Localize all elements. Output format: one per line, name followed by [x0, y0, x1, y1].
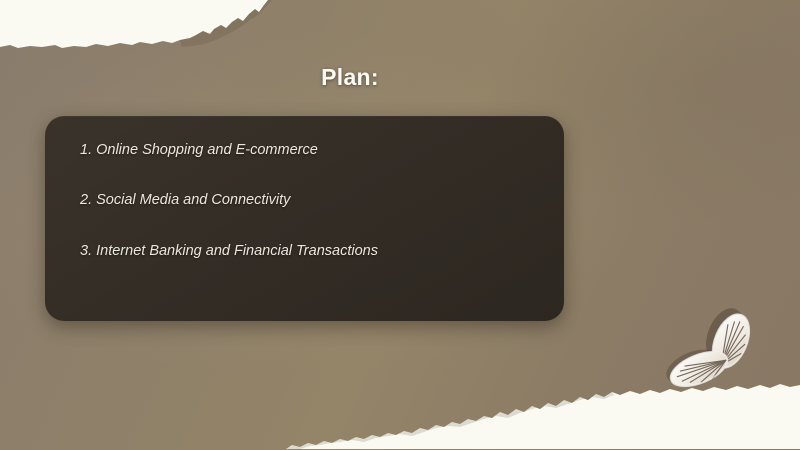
list-item: 3. Internet Banking and Financial Transa…	[80, 243, 542, 260]
plan-list: 1. Online Shopping and E-commerce 2. Soc…	[80, 142, 542, 260]
torn-paper-edge-bottom-icon	[0, 375, 800, 450]
butterfly-wings-icon	[665, 305, 795, 405]
presentation-slide: Plan: 1. Online Shopping and E-commerce …	[0, 0, 800, 450]
list-item: 2. Social Media and Connectivity	[80, 192, 542, 209]
list-item: 1. Online Shopping and E-commerce	[80, 142, 542, 159]
slide-title: Plan:	[0, 64, 700, 91]
torn-paper-edge-top-icon	[0, 0, 800, 70]
content-card: 1. Online Shopping and E-commerce 2. Soc…	[45, 116, 564, 321]
